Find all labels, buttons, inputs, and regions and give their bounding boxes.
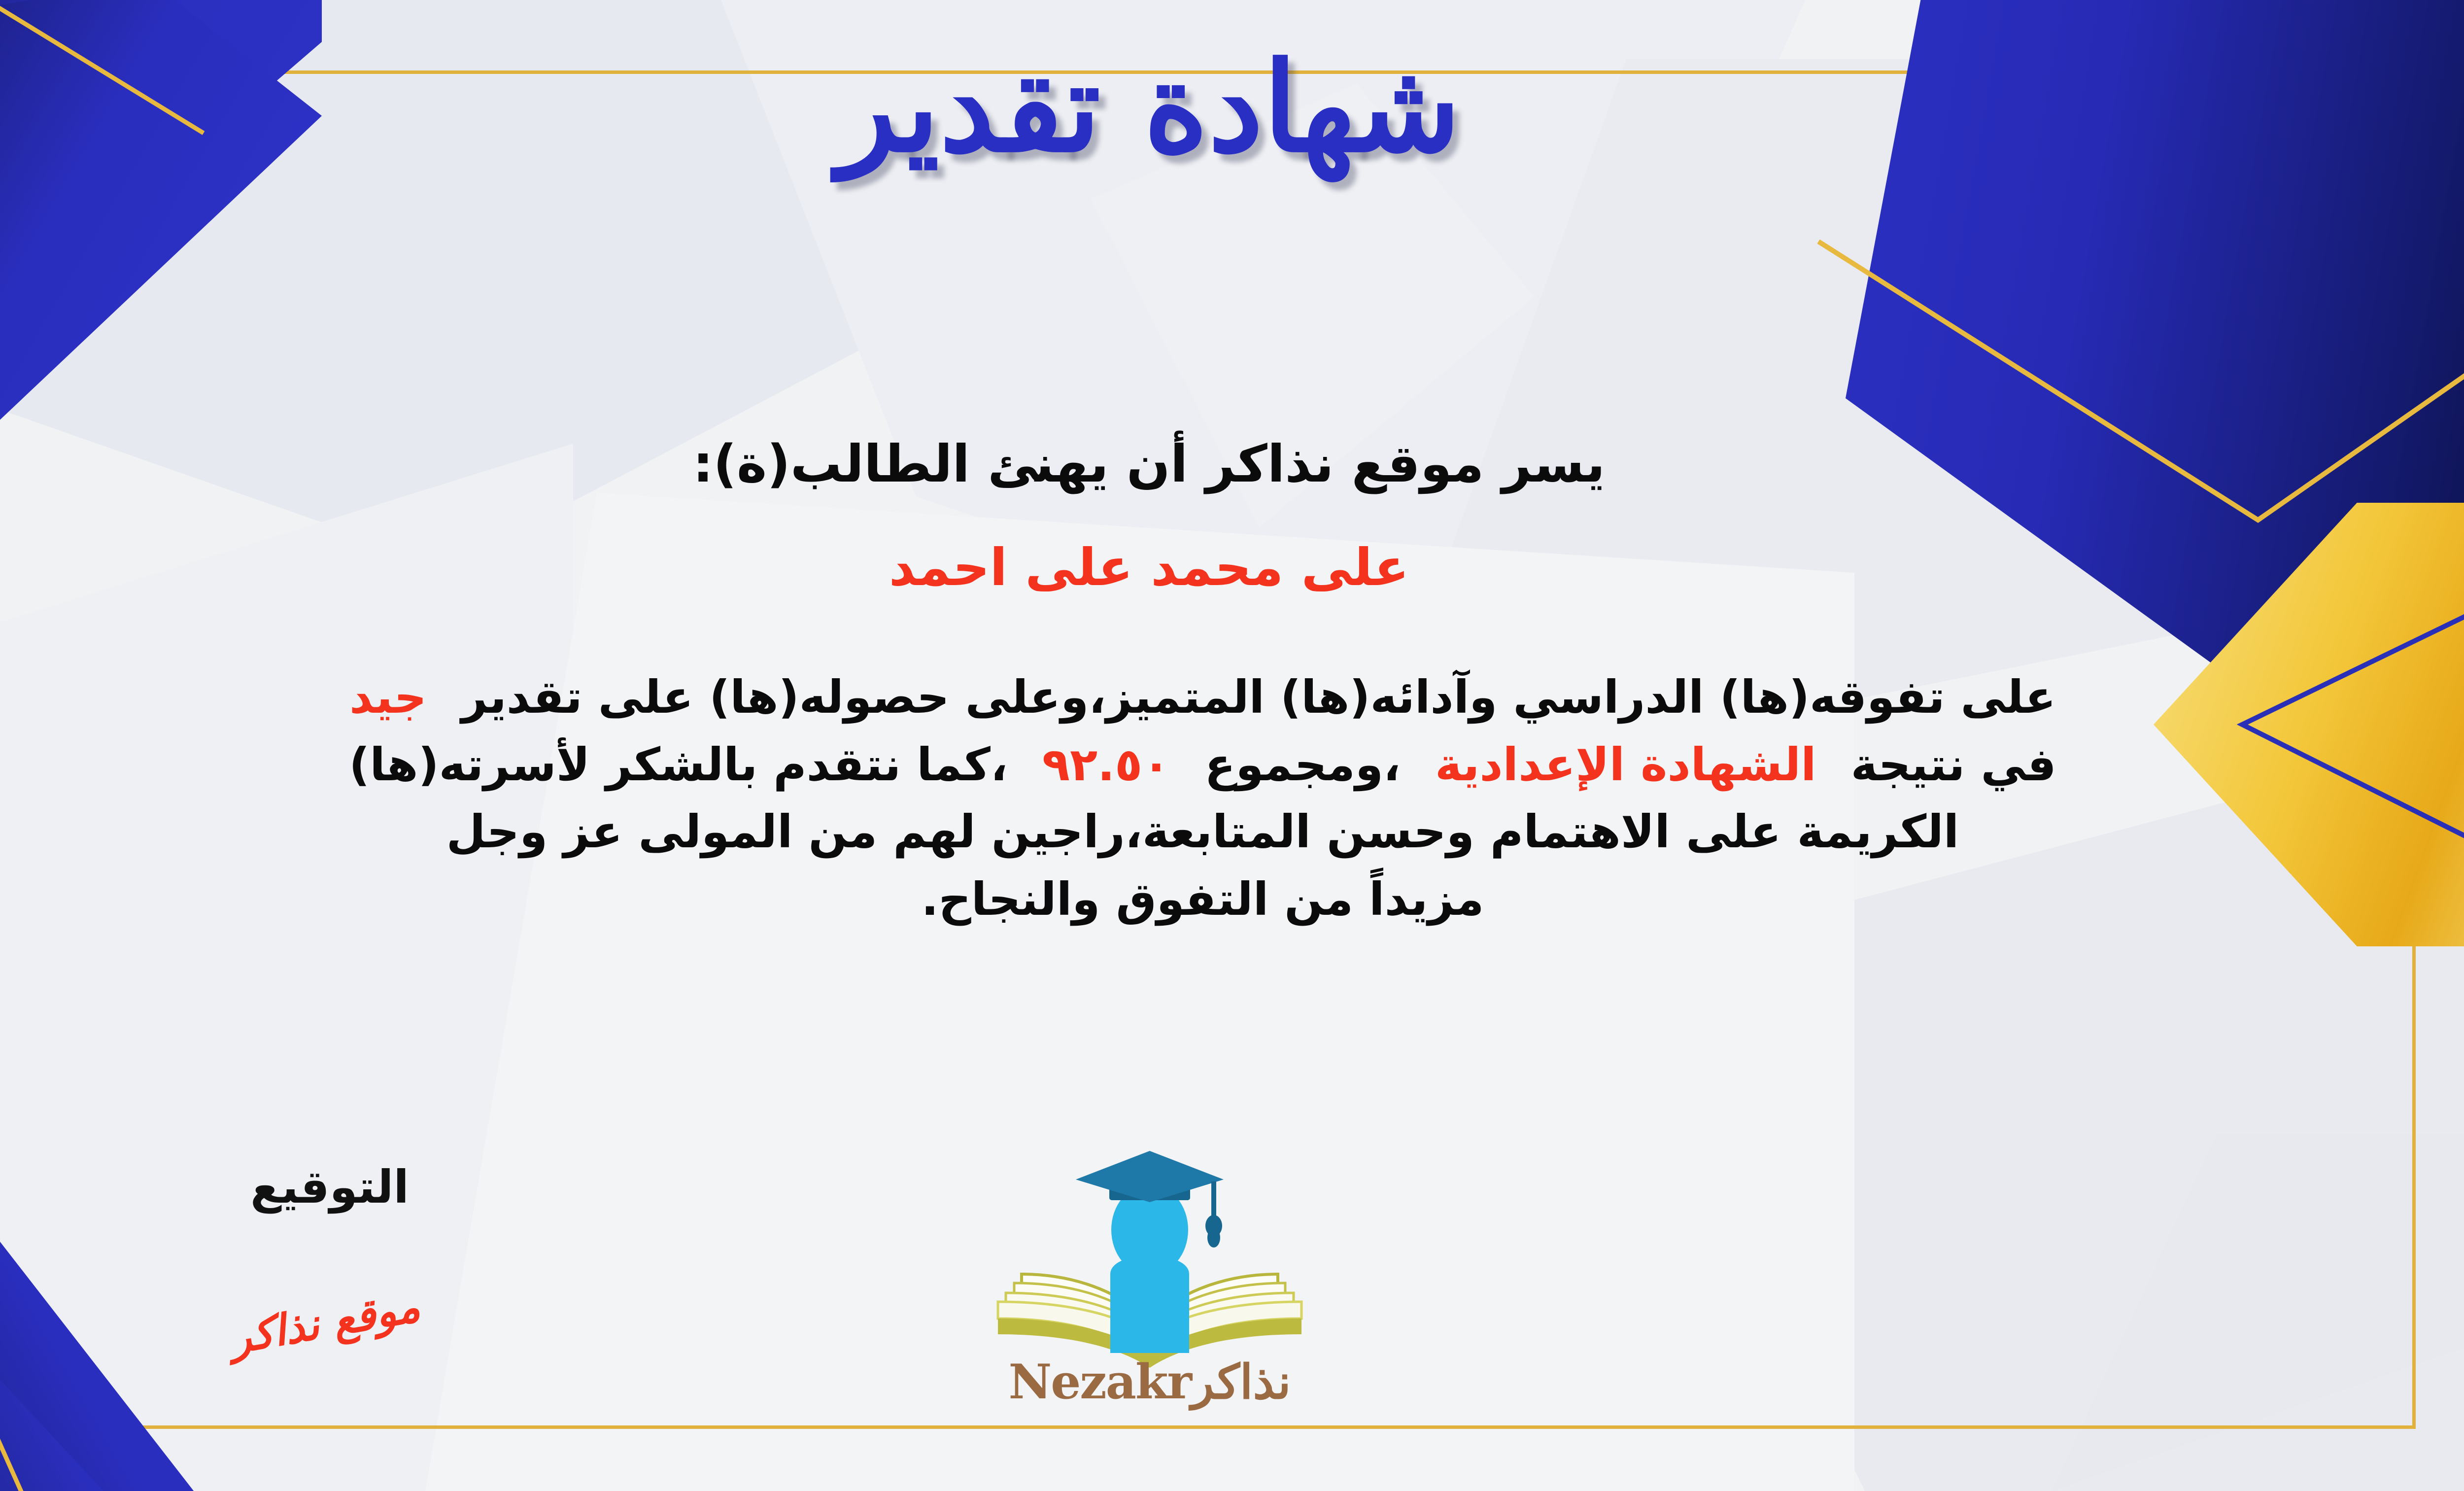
body-line-2-mid: ،ومجموع (1204, 738, 1401, 791)
logo-latin: Nezakr (1008, 1354, 1191, 1410)
certificate-title: شهادة تقدير (0, 35, 2464, 179)
student-name: على محمد على احمد (0, 537, 2464, 597)
nezakr-logo: نذاكرNezakr (967, 1129, 1332, 1405)
signature-label: التوقيع (250, 1161, 409, 1214)
body-line-1-text: على تفوقه(ها) الدراسي وآدائه(ها) المتميز… (461, 671, 2056, 724)
body-line-2: في نتيجةالشهادة الإعدادية،ومجموع٩٢.٥٠،كم… (0, 733, 2409, 798)
signature-mark: موقع نذاكر (226, 1282, 423, 1364)
certificate-content: شهادة تقدير يسر موقع نذاكر أن يهنئ الطال… (0, 0, 2464, 1491)
body-line-2-suffix: ،كما نتقدم بالشكر لأسرته(ها) (349, 738, 1008, 791)
grade-value: جيد (349, 671, 427, 724)
exam-name: الشهادة الإعدادية (1435, 738, 1816, 791)
certificate-body: على تفوقه(ها) الدراسي وآدائه(ها) المتميز… (0, 665, 2409, 935)
greeting-line: يسر موقع نذاكر أن يهنئ الطالب(ة): (0, 434, 2464, 494)
logo-arabic: نذاكر (1191, 1354, 1291, 1410)
body-line-1: على تفوقه(ها) الدراسي وآدائه(ها) المتميز… (0, 665, 2409, 730)
body-line-2-prefix: في نتيجة (1851, 738, 2056, 791)
certificate-canvas: شهادة تقدير يسر موقع نذاكر أن يهنئ الطال… (0, 0, 2464, 1491)
body-line-4: مزيداً من التفوق والنجاح. (0, 867, 2409, 932)
total-score: ٩٢.٥٠ (1042, 738, 1170, 791)
body-line-3: الكريمة على الاهتمام وحسن المتابعة،راجين… (0, 800, 2409, 865)
logo-wordmark: نذاكرNezakr (967, 1354, 1332, 1410)
